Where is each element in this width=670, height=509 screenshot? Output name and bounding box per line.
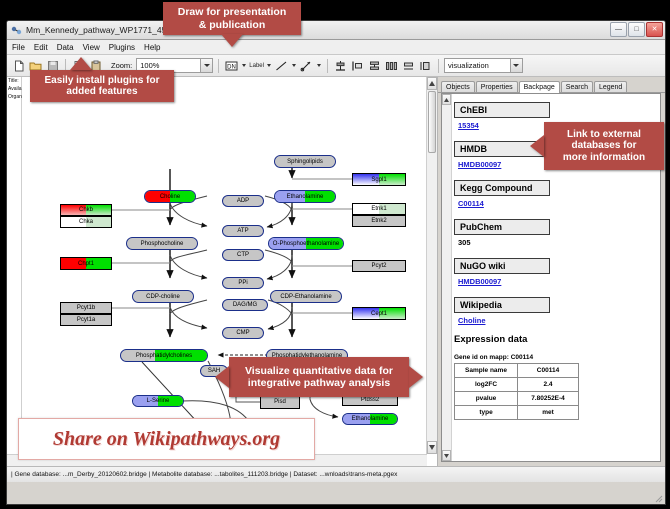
metabolite-label: PPi bbox=[238, 280, 247, 286]
metabolite-label: Phosphocholine bbox=[141, 241, 184, 247]
gene-label: Etnk1 bbox=[371, 206, 386, 212]
backpage-scroll-up-icon[interactable] bbox=[442, 94, 451, 105]
database-link[interactable]: C00114 bbox=[458, 199, 658, 208]
database-header: ChEBI bbox=[454, 102, 550, 118]
metabolite-node[interactable]: ADP bbox=[222, 195, 264, 207]
maximize-button[interactable]: □ bbox=[628, 22, 645, 37]
metabolite-label: Choline bbox=[160, 194, 180, 200]
zoom-label: Zoom: bbox=[111, 61, 132, 70]
gene-label: Ptdss2 bbox=[361, 397, 379, 403]
gene-label: Pcyt2 bbox=[371, 263, 386, 269]
database-header: NuGO wiki bbox=[454, 258, 550, 274]
chevron-down-icon-2[interactable] bbox=[510, 59, 522, 72]
pathway-canvas-wrap: Title: Availa Organi bbox=[7, 77, 438, 466]
database-header: Kegg Compound bbox=[454, 180, 550, 196]
distribute-horizontal-icon[interactable] bbox=[384, 58, 399, 73]
metabolite-node[interactable]: CDP-choline bbox=[132, 290, 194, 303]
gene-label: Cept1 bbox=[371, 311, 387, 317]
gene-node[interactable]: Chka bbox=[60, 216, 112, 228]
toolbar-separator-3 bbox=[327, 59, 328, 73]
gene-label: Pcyt1a bbox=[77, 317, 95, 323]
expression-key: Sample name bbox=[455, 364, 518, 378]
gutter-organism-label: Organi bbox=[7, 93, 21, 101]
gene-node[interactable]: Sgpl1 bbox=[352, 173, 406, 186]
canvas-info-gutter: Title: Availa Organi bbox=[7, 77, 22, 466]
table-row: Sample nameC00114 bbox=[455, 364, 579, 378]
align-top-icon[interactable] bbox=[333, 58, 348, 73]
metabolite-node[interactable]: CTP bbox=[222, 249, 264, 261]
metabolite-node[interactable]: PPi bbox=[222, 277, 264, 289]
side-panel-tabs: ObjectsPropertiesBackpageSearchLegend bbox=[438, 77, 665, 93]
canvas-vscroll-thumb[interactable] bbox=[428, 91, 436, 153]
metabolite-node[interactable]: Choline bbox=[144, 190, 196, 203]
metabolite-node[interactable]: DAG/MG bbox=[222, 299, 268, 311]
menu-data[interactable]: Data bbox=[57, 43, 74, 52]
metabolite-node[interactable]: CDP-Ethanolamine bbox=[270, 290, 342, 303]
expression-value: C00114 bbox=[518, 364, 579, 378]
metabolite-node[interactable]: O-Phosphoethanolamine bbox=[268, 237, 344, 250]
callout-plugins-arrow-icon bbox=[70, 57, 92, 70]
share-text: Share on Wikipathways.org bbox=[53, 428, 280, 451]
callout-plugins: Easily install plugins for added feature… bbox=[30, 70, 174, 102]
menu-file[interactable]: File bbox=[12, 43, 25, 52]
datanode-tool-icon[interactable]: DN bbox=[224, 58, 239, 73]
table-row: log2FC2.4 bbox=[455, 378, 579, 392]
new-document-icon[interactable] bbox=[11, 58, 26, 73]
menu-bar: File Edit Data View Plugins Help bbox=[7, 40, 665, 55]
expression-value: met bbox=[518, 406, 579, 420]
scroll-up-icon[interactable] bbox=[427, 77, 437, 90]
tab-legend[interactable]: Legend bbox=[594, 81, 627, 92]
svg-text:DN: DN bbox=[227, 64, 236, 70]
canvas-vertical-scrollbar[interactable] bbox=[426, 77, 437, 454]
status-bar: | Gene database: ...m_Derby_20120602.bri… bbox=[7, 466, 665, 482]
minimize-button[interactable]: — bbox=[610, 22, 627, 37]
expression-value: 2.4 bbox=[518, 378, 579, 392]
backpage-scroll-down-icon[interactable] bbox=[442, 450, 451, 461]
metabolite-label: Ethanolamine bbox=[287, 194, 324, 200]
gene-node[interactable]: Chpt1 bbox=[60, 257, 112, 270]
table-row: pvalue7.80252E-4 bbox=[455, 392, 579, 406]
expression-key: type bbox=[455, 406, 518, 420]
gene-node[interactable]: Etnk1 bbox=[352, 203, 406, 215]
gutter-title-label: Title: bbox=[7, 77, 21, 85]
metabolite-label: ADP bbox=[237, 198, 249, 204]
gene-node[interactable]: Pcyt1b bbox=[60, 302, 112, 314]
callout-links: Link to external databases for more info… bbox=[544, 122, 664, 170]
callout-draw: Draw for presentation & publication bbox=[163, 2, 301, 35]
pathvisio-icon bbox=[11, 25, 22, 36]
gene-label: Etnk2 bbox=[371, 218, 386, 224]
tab-properties[interactable]: Properties bbox=[476, 81, 518, 92]
interaction-icon[interactable] bbox=[299, 58, 314, 73]
metabolite-node[interactable]: Phosphatidylcholines bbox=[120, 349, 208, 362]
metabolite-label: DAG/MG bbox=[233, 302, 257, 308]
metabolite-label: CDP-Ethanolamine bbox=[280, 294, 331, 300]
gene-label: Pisd bbox=[274, 399, 286, 405]
database-header: PubChem bbox=[454, 219, 550, 235]
gene-node[interactable]: Pisd bbox=[260, 395, 300, 409]
metabolite-node[interactable]: Sphingolipids bbox=[274, 155, 336, 168]
metabolite-label: CTP bbox=[237, 252, 249, 258]
screenshot-root: Mm_Kennedy_pathway_WP1771_45176.gpml — □… bbox=[0, 0, 670, 509]
metabolite-node[interactable]: CMP bbox=[222, 327, 264, 339]
metabolite-label: Phosphatidylcholines bbox=[136, 353, 192, 359]
close-button[interactable]: ✕ bbox=[646, 22, 663, 37]
backpage-scrollbar[interactable] bbox=[442, 94, 452, 461]
gene-node[interactable]: Etnk2 bbox=[352, 215, 406, 227]
toolbar-separator-2 bbox=[218, 59, 219, 73]
gene-node[interactable]: Cept1 bbox=[352, 307, 406, 320]
expression-key: pvalue bbox=[455, 392, 518, 406]
datanode-dropdown-icon[interactable] bbox=[241, 58, 247, 73]
chevron-down-icon[interactable] bbox=[200, 59, 212, 72]
gene-node[interactable]: Pcyt1a bbox=[60, 314, 112, 326]
gene-label: Sgpl1 bbox=[371, 177, 386, 183]
metabolite-node[interactable]: L-Serine bbox=[132, 395, 184, 407]
gutter-available-label: Availa bbox=[7, 85, 21, 93]
tab-search[interactable]: Search bbox=[561, 81, 593, 92]
gene-label: Chka bbox=[79, 219, 93, 225]
metabolite-node[interactable]: Ethanolamine bbox=[342, 413, 398, 425]
toolbar-separator-4 bbox=[438, 59, 439, 73]
database-header: Wikipedia bbox=[454, 297, 550, 313]
title-bar: Mm_Kennedy_pathway_WP1771_45176.gpml — □… bbox=[7, 21, 665, 40]
gene-label: Chpt1 bbox=[78, 261, 94, 267]
callout-share: Share on Wikipathways.org bbox=[18, 418, 315, 460]
menu-help[interactable]: Help bbox=[144, 43, 160, 52]
expression-data-title: Expression data bbox=[454, 334, 658, 345]
callout-draw-arrow-icon bbox=[221, 34, 243, 47]
metabolite-label: ATP bbox=[237, 228, 248, 234]
expression-value: 7.80252E-4 bbox=[518, 392, 579, 406]
gene-label: Chkb bbox=[79, 207, 93, 213]
metabolite-node[interactable]: ATP bbox=[222, 225, 264, 237]
pathway-canvas[interactable]: SphingolipidsEthanolamineO-Phosphoethano… bbox=[22, 77, 427, 466]
stack-vertical-icon[interactable] bbox=[367, 58, 382, 73]
line-icon[interactable] bbox=[274, 58, 289, 73]
menu-edit[interactable]: Edit bbox=[34, 43, 48, 52]
database-value: 305 bbox=[458, 238, 658, 247]
callout-links-arrow-icon bbox=[530, 135, 544, 157]
gene-node[interactable]: Chkb bbox=[60, 204, 112, 216]
common-width-icon[interactable] bbox=[401, 58, 416, 73]
common-height-icon[interactable] bbox=[418, 58, 433, 73]
line-dropdown-icon[interactable] bbox=[291, 58, 297, 73]
label-tool-label[interactable]: Label bbox=[249, 63, 264, 69]
menu-view[interactable]: View bbox=[83, 43, 100, 52]
interaction-dropdown-icon[interactable] bbox=[316, 58, 322, 73]
tab-backpage[interactable]: Backpage bbox=[519, 81, 560, 93]
tab-objects[interactable]: Objects bbox=[441, 81, 475, 92]
callout-visualize: Visualize quantitative data for integrat… bbox=[229, 357, 409, 397]
database-link[interactable]: HMDB00097 bbox=[458, 277, 658, 286]
gene-label: Pcyt1b bbox=[77, 305, 95, 311]
gene-id-line: Gene id on mapp: C00114 bbox=[454, 354, 658, 361]
zoom-value: 100% bbox=[140, 61, 159, 70]
metabolite-label: CMP bbox=[236, 330, 249, 336]
metabolite-node[interactable]: Ethanolamine bbox=[274, 190, 336, 203]
expression-key: log2FC bbox=[455, 378, 518, 392]
visualization-combo[interactable]: visualization bbox=[444, 58, 523, 73]
callout-visualize-arrow-icon bbox=[215, 366, 229, 388]
metabolite-label: L-Serine bbox=[147, 398, 170, 404]
scroll-down-icon[interactable] bbox=[427, 441, 437, 454]
visualization-value: visualization bbox=[448, 61, 489, 70]
callout-visualize-arrow-right-icon bbox=[409, 366, 423, 388]
table-row: typemet bbox=[455, 406, 579, 420]
status-text: | Gene database: ...m_Derby_20120602.bri… bbox=[11, 471, 397, 478]
gene-node[interactable]: Pcyt2 bbox=[352, 260, 406, 272]
align-left-icon[interactable] bbox=[350, 58, 365, 73]
metabolite-label: Ethanolamine bbox=[352, 416, 389, 422]
expression-table: Sample nameC00114log2FC2.4pvalue7.80252E… bbox=[454, 363, 579, 420]
window-controls: — □ ✕ bbox=[610, 22, 663, 37]
menu-plugins[interactable]: Plugins bbox=[109, 43, 135, 52]
database-link[interactable]: Choline bbox=[458, 316, 658, 325]
metabolite-label: CDP-choline bbox=[146, 294, 180, 300]
metabolite-node[interactable]: Phosphocholine bbox=[126, 237, 198, 250]
resize-grip-icon[interactable] bbox=[653, 493, 663, 503]
metabolite-label: O-Phosphoethanolamine bbox=[273, 241, 339, 247]
metabolite-label: Sphingolipids bbox=[287, 159, 323, 165]
label-dropdown-icon[interactable] bbox=[266, 58, 272, 73]
